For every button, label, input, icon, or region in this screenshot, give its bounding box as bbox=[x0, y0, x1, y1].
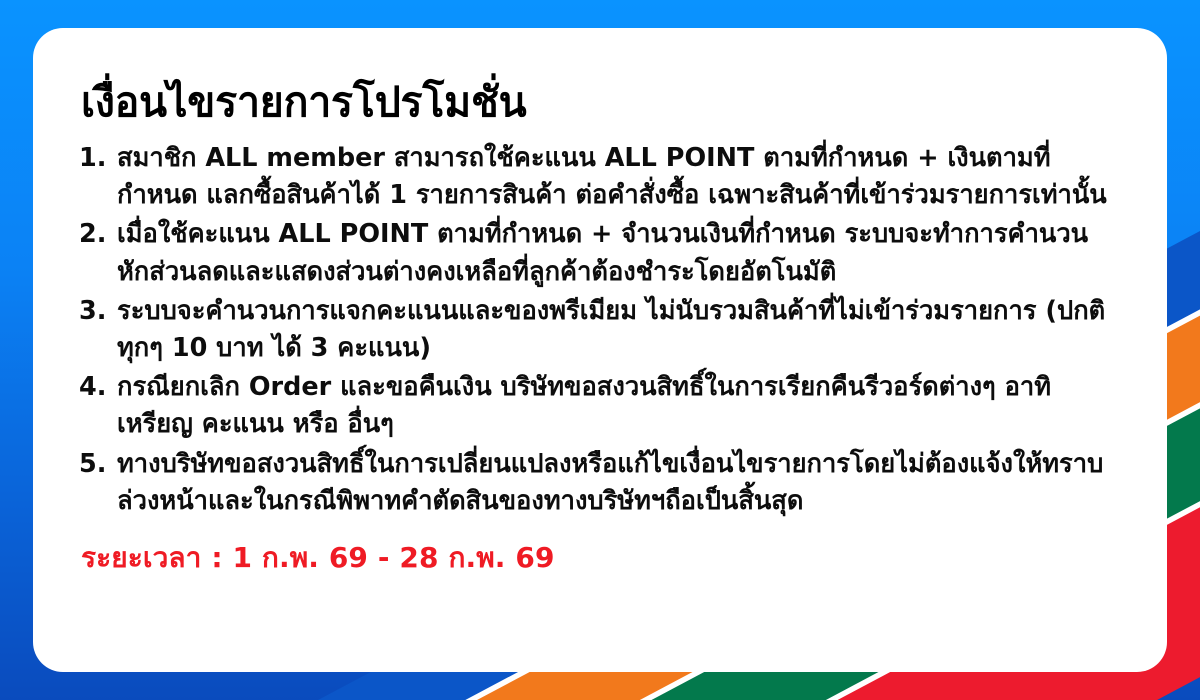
list-item: 4. กรณียกเลิก Order และขอคืนเงิน บริษัทข… bbox=[79, 369, 1121, 443]
list-item: 3. ระบบจะคำนวนการแจกคะแนนและของพรีเมียม … bbox=[79, 293, 1121, 367]
promotion-period: ระยะเวลา : 1 ก.พ. 69 - 28 ก.พ. 69 bbox=[81, 536, 1121, 580]
list-item-text: ระบบจะคำนวนการแจกคะแนนและของพรีเมียม ไม่… bbox=[117, 293, 1121, 367]
list-item-number: 2. bbox=[79, 216, 117, 253]
list-item: 2. เมื่อใช้คะแนน ALL POINT ตามที่กำหนด +… bbox=[79, 216, 1121, 290]
terms-card: เงื่อนไขรายการโปรโมชั่น 1. สมาชิก ALL me… bbox=[33, 28, 1167, 672]
list-item-number: 5. bbox=[79, 446, 117, 483]
list-item-text: สมาชิก ALL member สามารถใช้คะแนน ALL POI… bbox=[117, 140, 1121, 214]
page-title: เงื่อนไขรายการโปรโมชั่น bbox=[81, 80, 1121, 126]
list-item-text: ทางบริษัทขอสงวนสิทธิ์ในการเปลี่ยนแปลงหรื… bbox=[117, 446, 1121, 520]
list-item-number: 4. bbox=[79, 369, 117, 406]
list-item-text: เมื่อใช้คะแนน ALL POINT ตามที่กำหนด + จำ… bbox=[117, 216, 1121, 290]
list-item: 1. สมาชิก ALL member สามารถใช้คะแนน ALL … bbox=[79, 140, 1121, 214]
list-item-number: 1. bbox=[79, 140, 117, 177]
terms-list: 1. สมาชิก ALL member สามารถใช้คะแนน ALL … bbox=[79, 140, 1121, 520]
promotion-terms-poster: เงื่อนไขรายการโปรโมชั่น 1. สมาชิก ALL me… bbox=[0, 0, 1200, 700]
list-item: 5. ทางบริษัทขอสงวนสิทธิ์ในการเปลี่ยนแปลง… bbox=[79, 446, 1121, 520]
list-item-text: กรณียกเลิก Order และขอคืนเงิน บริษัทขอสง… bbox=[117, 369, 1121, 443]
list-item-number: 3. bbox=[79, 293, 117, 330]
